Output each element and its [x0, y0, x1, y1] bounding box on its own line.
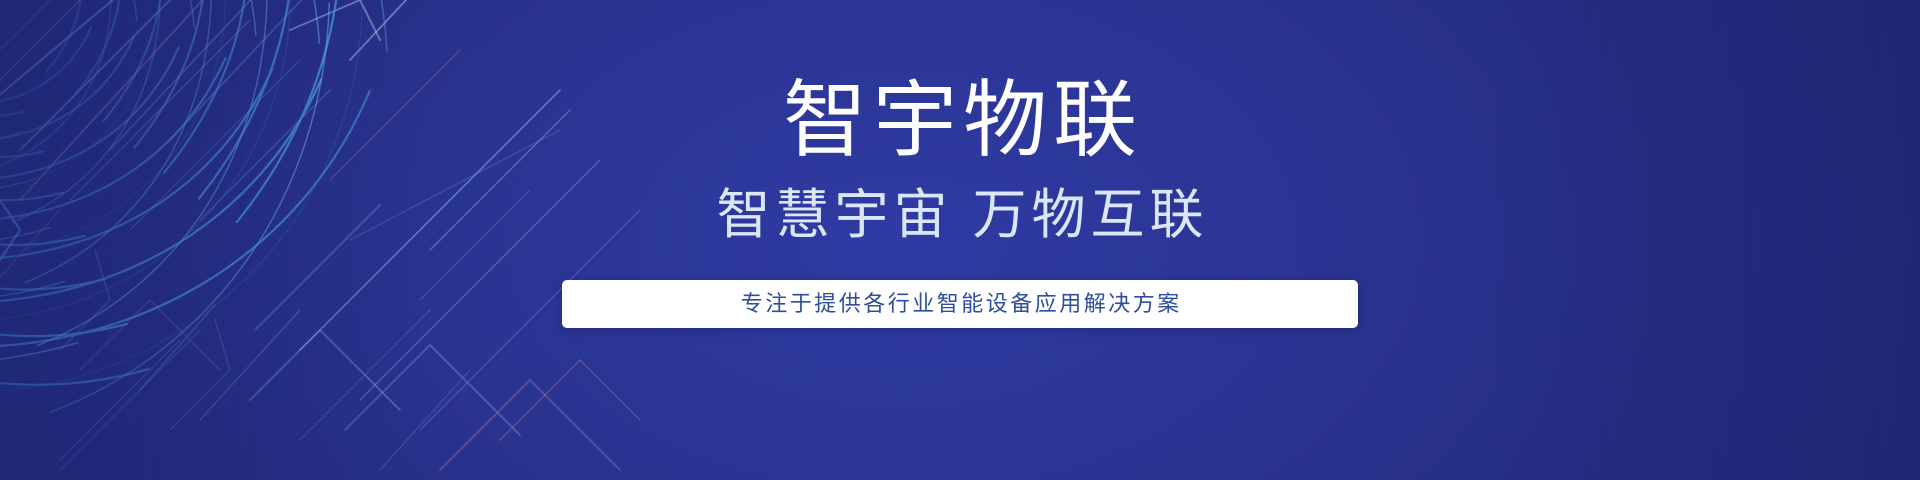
tagline-text: 专注于提供各行业智能设备应用解决方案 [738, 293, 1182, 315]
tagline-pill: 专注于提供各行业智能设备应用解决方案 [562, 280, 1358, 328]
hero-banner: 智宇物联 智慧宇宙 万物互联 专注于提供各行业智能设备应用解决方案 [0, 0, 1920, 480]
banner-subtitle: 智慧宇宙 万物互联 [711, 188, 1208, 242]
banner-content: 智宇物联 智慧宇宙 万物互联 专注于提供各行业智能设备应用解决方案 [0, 0, 1920, 480]
page-title: 智宇物联 [777, 78, 1143, 162]
